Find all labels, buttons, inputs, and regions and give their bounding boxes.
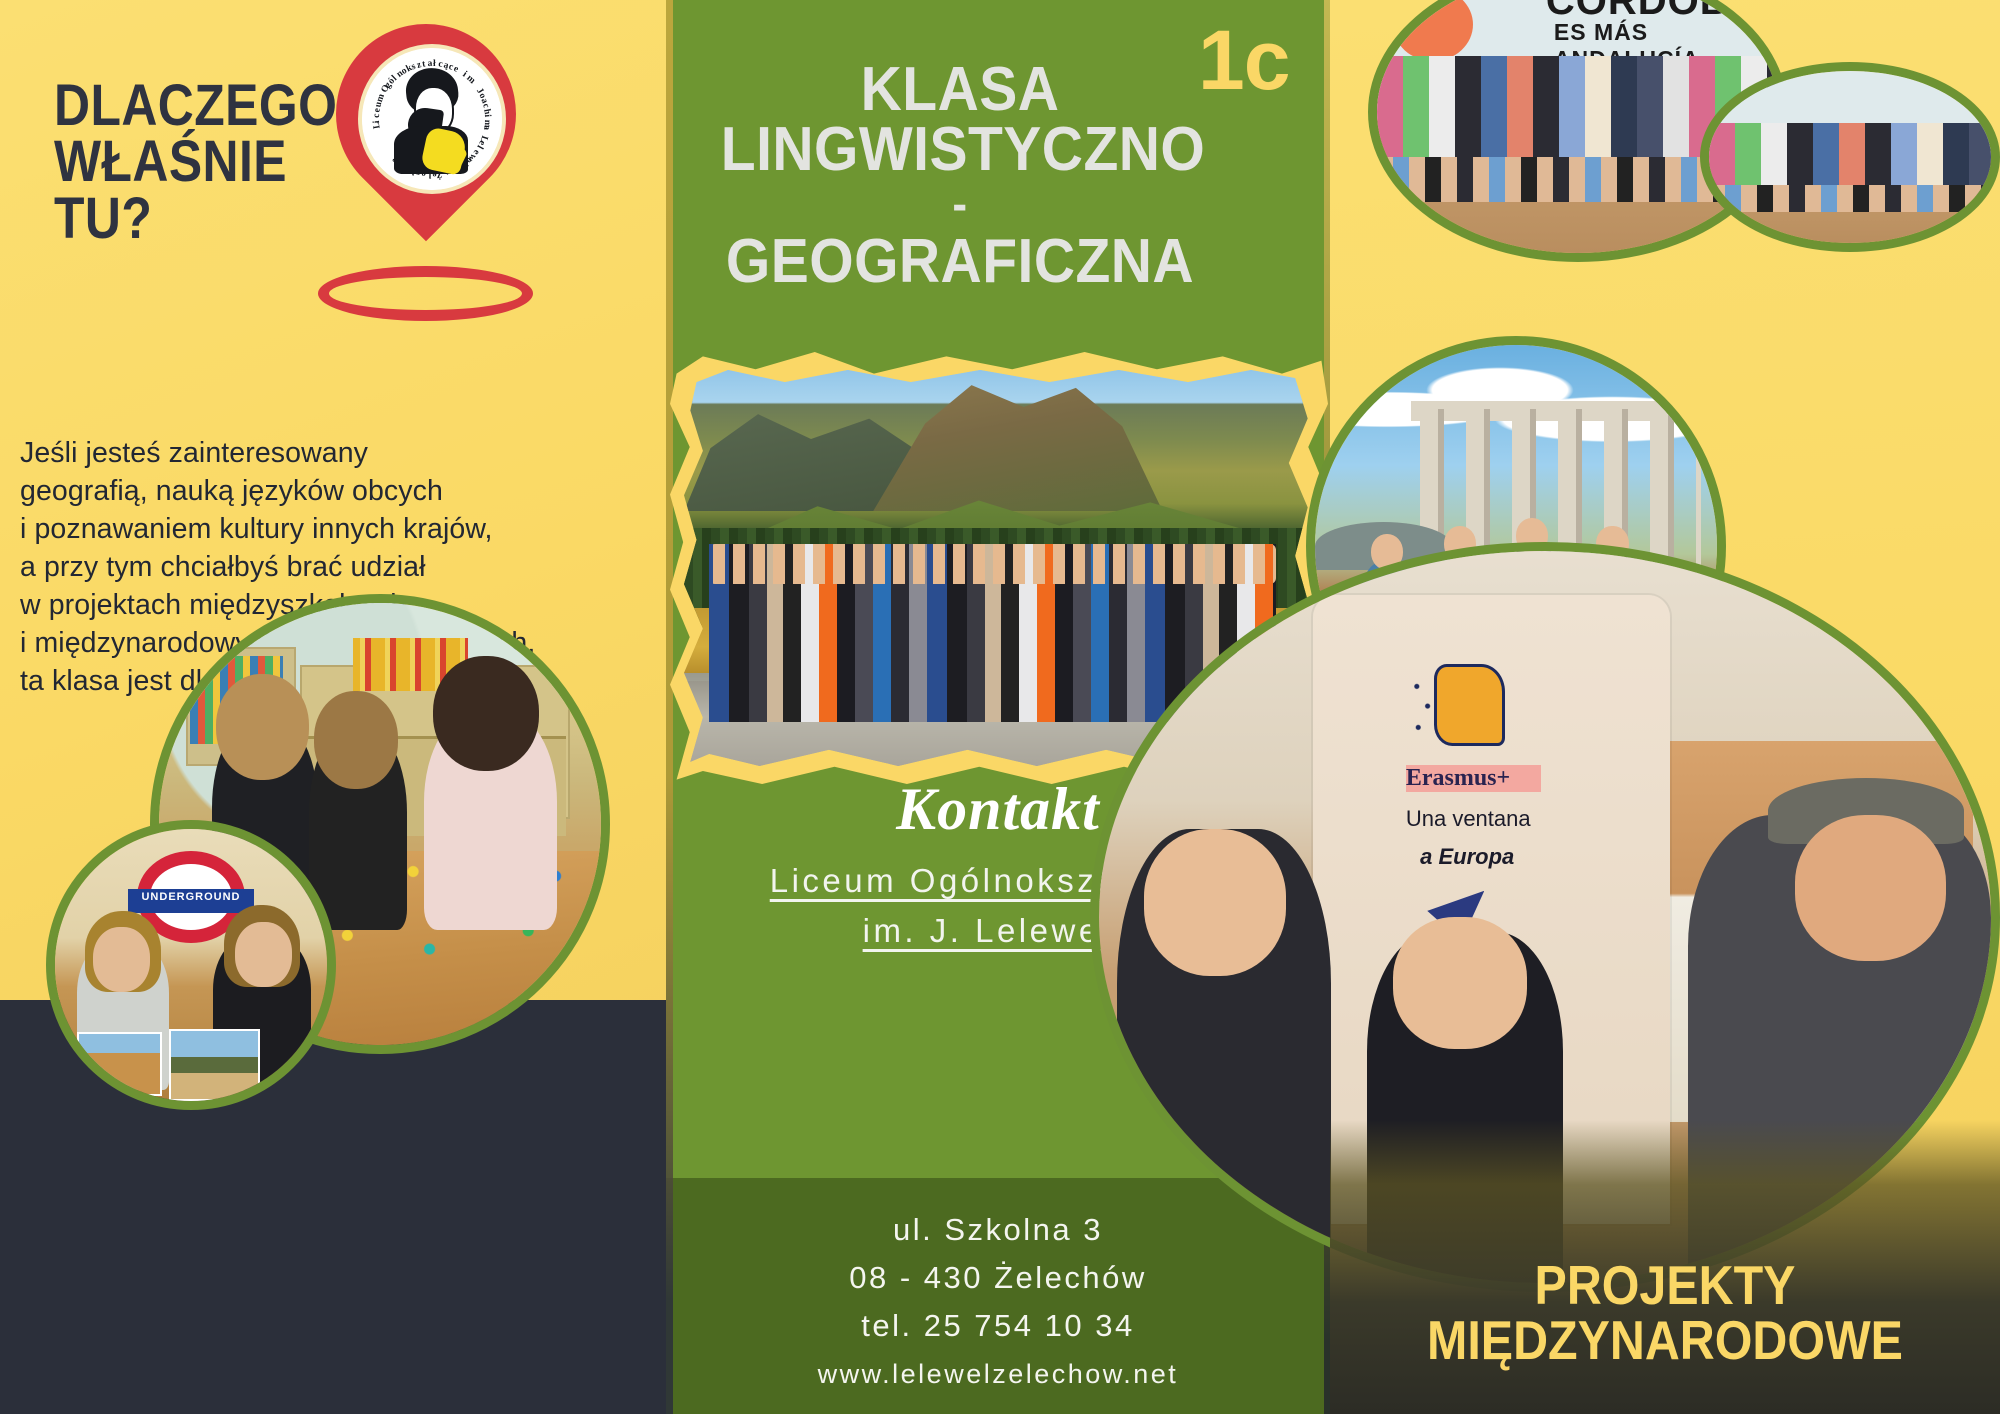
international-projects-title: PROJEKTY MIĘDZYNARODOWE [1370, 1258, 1960, 1368]
intro-line-1: Jeśli jesteś zainteresowany [20, 434, 650, 472]
intro-line-3: i poznawaniem kultury innych krajów, [20, 510, 650, 548]
erasmus-subtitle-1: Una ventana [1406, 806, 1542, 832]
headline-line-3: TU? [54, 191, 338, 247]
map-pin-icon: Liceum Ogólnokształcące im. Joachima Lel… [310, 18, 545, 318]
class-title: KLASA LINGWISTYCZNO - GEOGRAFICZNA [721, 60, 1199, 291]
page-title: DLACZEGO WŁAŚNIE TU? [54, 78, 338, 247]
intro-line-2: geografią, nauką języków obcych [20, 472, 650, 510]
projects-line-1: PROJEKTY [1370, 1258, 1960, 1313]
intro-line-4: a przy tym chciałbyś brać udział [20, 548, 650, 586]
school-logo: Liceum Ogólnokształcące im. Joachima Lel… [358, 44, 506, 194]
class-title-line-2: LINGWISTYCZNO [721, 120, 1199, 180]
photo-headphones-pair: UNDERGROUND [46, 820, 336, 1110]
headline-line-2: WŁAŚNIE [54, 134, 338, 190]
projects-line-2: MIĘDZYNARODOWE [1370, 1313, 1960, 1368]
lelewel-portrait-icon [390, 68, 474, 172]
brochure-page: DLACZEGO WŁAŚNIE TU? Liceum Ogólnokształ… [0, 0, 2000, 1414]
erasmus-subtitle-2: a Europa [1420, 844, 1541, 870]
class-title-dash: - [721, 179, 1199, 232]
class-code-badge: 1c [1198, 18, 1289, 102]
europe-map-icon [1434, 664, 1504, 746]
erasmus-title: Erasmus+ [1406, 765, 1542, 792]
center-panel-left-edge [666, 0, 673, 1414]
class-title-line-1: KLASA [721, 60, 1199, 120]
website-url[interactable]: www.lelewelzelechow.net [666, 1350, 1330, 1398]
photo-cordoba-group-right-overflow [1700, 62, 2000, 252]
pin-base-ellipse [318, 266, 533, 321]
phone-number: tel. 25 754 10 34 [666, 1302, 1330, 1350]
class-title-line-3: GEOGRAFICZNA [721, 232, 1199, 292]
headline-line-1: DLACZEGO [54, 78, 338, 134]
